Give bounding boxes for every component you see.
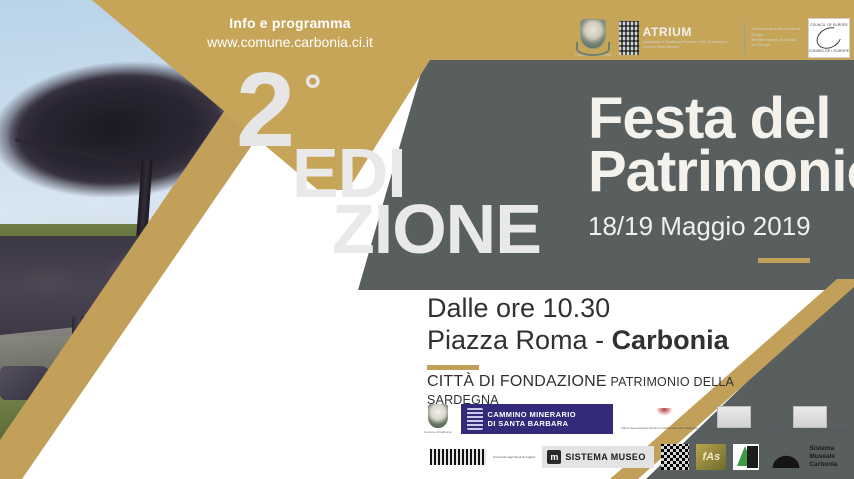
cammino-line-1: CAMMINO MINERARIO [488,410,576,419]
event-details-block: Dalle ore 10.30 Piazza Roma - Carbonia C… [427,292,777,408]
logo-ministero-beni-culturali: Ministero dei Beni e delle Attività Cult… [707,406,762,432]
soprintendenza-icon [793,406,827,428]
event-tagline: CITTÀ DI FONDAZIONE PATRIMONIO DELLA SAR… [427,373,777,408]
sistema-museale-line-2: Museale [809,453,837,461]
logo-comune-di-carbonia-small: Comune di Carbonia [424,404,452,434]
info-block: Info e programma www.comune.carbonia.ci.… [140,14,440,52]
sponsor-logo-row-1: Comune di Carbonia CAMMINO MINERARIO DI … [424,404,854,434]
sistema-museale-text: Sistema Museale Carbonia [809,445,837,469]
maze-logo-icon [661,444,689,470]
logo-caption: Comune di Carbonia [424,430,452,434]
top-logo-strip: Comune di Carbonia ATRIUM Architecture o… [575,10,850,66]
poster-root: Info e programma www.comune.carbonia.ci.… [0,0,854,479]
sistema-museale-line-3: Carbonia [809,461,837,469]
main-title-block: Festa del Patrimonio 18/19 Maggio 2019 [588,92,846,263]
logo-council-of-europe: COUNCIL OF EUROPE CONSEIL DE L'EUROPE [808,18,850,58]
website-url[interactable]: www.comune.carbonia.ci.it [140,33,440,52]
title-line-1: Festa del [588,92,846,145]
green-tree-logo-icon [733,444,759,470]
logo-caption: Ministero dei Beni e delle Attività Cult… [707,428,762,432]
coat-of-arms-icon [428,404,448,428]
council-of-europe-bottom-label: CONSEIL DE L'EUROPE [809,49,849,53]
title-gold-rule [758,258,810,263]
sponsor-logo-row-2: Università degli Studi di Cagliari m SIS… [430,444,838,470]
wave-icon [633,408,687,426]
sistema-museo-label: SISTEMA MUSEO [565,452,645,462]
cammino-text: CAMMINO MINERARIO DI SANTA BARBARA [488,410,576,429]
logo-cammino-minerario: CAMMINO MINERARIO DI SANTA BARBARA [461,404,613,434]
event-place-prefix: Piazza Roma - [427,325,612,355]
title-line-2: Patrimonio [588,145,846,198]
event-city: Carbonia [612,325,729,355]
logo-divider [744,22,745,54]
mine-tower-icon [467,408,483,430]
cammino-line-2: DI SANTA BARBARA [488,419,576,428]
tagline-strong: CITTÀ DI FONDAZIONE [427,373,607,390]
coat-of-arms-icon [580,19,606,49]
event-date: 18/19 Maggio 2019 [588,211,846,242]
atrium-text: ATRIUM Architecture of Totalitarian Regi… [643,26,737,50]
sistema-museo-mark-icon: m [547,450,561,464]
sistema-museale-line-1: Sistema [809,445,837,453]
logo-atrium: ATRIUM Architecture of Totalitarian Regi… [619,21,737,55]
logo-caption-universita: Università degli Studi di Cagliari [493,455,535,459]
atrium-subtitle: Architecture of Totalitarian Regimes of … [643,40,737,50]
olive-logo-icon: fAs [696,444,726,470]
cultural-route-fr: Itinéraire culturel du Conseil de l'Euro… [752,38,801,49]
info-label: Info e programma [140,14,440,33]
barcode-logo-icon [430,449,486,465]
atrium-pattern-icon [619,21,639,55]
details-gold-rule [427,365,479,370]
logo-soprintendenza: Soprintendenza Archeologia Belle Arti e … [771,406,850,432]
logo-parco-geominerario: Parco Geominerario Storico e Ambientale … [622,408,698,430]
logo-caption: Soprintendenza Archeologia Belle Arti e … [771,428,850,432]
event-place: Piazza Roma - Carbonia [427,324,777,356]
logo-sistema-museo: m SISTEMA MUSEO [542,446,654,468]
ministry-icon [717,406,751,428]
event-time: Dalle ore 10.30 [427,292,777,324]
logo-comune-di-carbonia: Comune di Carbonia [575,19,612,57]
shell-icon [766,446,806,468]
logo-cultural-route: Cultural route of the Council of Europe … [752,27,801,49]
logo-sistema-museale-carbonia: Sistema Museale Carbonia [766,445,837,469]
logo-caption: Parco Geominerario Storico e Ambientale … [622,426,698,430]
atrium-title: ATRIUM [643,26,737,38]
cultural-route-en: Cultural route of the Council of Europe [752,27,801,38]
